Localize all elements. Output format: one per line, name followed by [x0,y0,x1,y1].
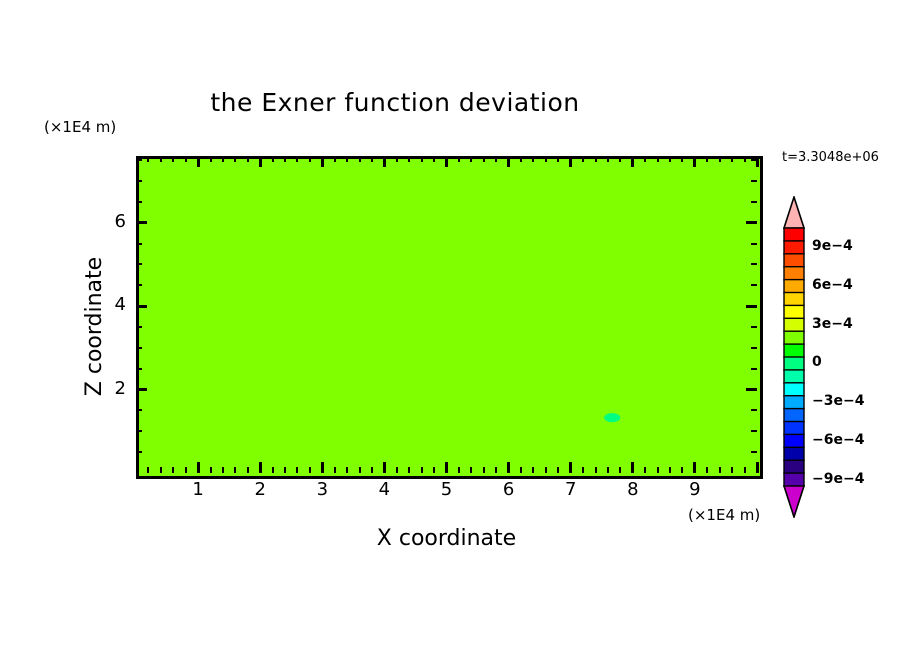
z-tick-minor [136,263,142,265]
x-tick-minor-top [284,156,286,162]
x-tick-minor [669,467,671,473]
x-tick-major-top [569,156,572,167]
x-tick-minor-top [234,156,236,162]
colorbar-swatch [784,331,804,344]
x-tick-minor [147,467,149,473]
page-title: the Exner function deviation [0,88,790,117]
x-tick-minor-top [470,156,472,162]
x-tick-label: 9 [675,479,715,500]
z-tick-major-right [746,221,757,224]
x-tick-major-top [631,156,634,167]
z-tick-minor [136,201,142,203]
x-tick-minor [234,467,236,473]
colorbar-swatch [784,383,804,396]
z-tick-major-right [746,305,757,308]
x-tick-minor [607,467,609,473]
x-tick-minor [520,467,522,473]
x-tick-minor-top [172,156,174,162]
x-tick-minor [172,467,174,473]
x-tick-major [321,462,324,473]
x-tick-minor-top [210,156,212,162]
colorbar-tick-label: −3e−4 [812,393,864,409]
x-tick-minor [557,467,559,473]
x-tick-major [445,462,448,473]
x-tick-minor-top [433,156,435,162]
x-tick-minor [210,467,212,473]
x-tick-major [259,462,262,473]
x-tick-minor [222,467,224,473]
x-tick-minor [458,467,460,473]
x-tick-major-top [445,156,448,167]
x-tick-minor-top [396,156,398,162]
x-tick-major [507,462,510,473]
x-tick-minor-top [545,156,547,162]
x-tick-label: 3 [302,479,342,500]
colorbar-tick-label: 0 [812,354,822,370]
z-tick-minor [136,180,142,182]
z-tick-minor [136,409,142,411]
colorbar-swatch [784,409,804,422]
x-tick-label: 7 [551,479,591,500]
x-tick-minor-top [272,156,274,162]
x-tick-minor [296,467,298,473]
x-tick-minor [421,467,423,473]
y-axis-title: Z coordinate [82,168,107,485]
z-tick-minor-right [751,347,757,349]
x-tick-label: 4 [364,479,404,500]
z-tick-minor [136,451,142,453]
x-tick-label: 1 [178,479,218,500]
x-tick-minor [545,467,547,473]
x-tick-minor-top [371,156,373,162]
x-tick-major-top [693,156,696,167]
x-tick-minor [731,467,733,473]
x-tick-minor-top [185,156,187,162]
x-tick-label: 6 [489,479,529,500]
colorbar-under-arrow [784,486,804,517]
colorbar-swatches [779,196,809,518]
z-tick-minor [136,368,142,370]
x-tick-minor [371,467,373,473]
x-tick-minor-top [483,156,485,162]
x-tick-minor [644,467,646,473]
x-tick-minor-top [582,156,584,162]
x-tick-minor [185,467,187,473]
x-tick-minor-top [557,156,559,162]
x-tick-minor-top [719,156,721,162]
x-tick-minor [744,467,746,473]
x-tick-minor-top [731,156,733,162]
x-tick-minor-top [222,156,224,162]
colorbar-swatch [784,267,804,280]
x-tick-minor-top [532,156,534,162]
x-tick-minor [483,467,485,473]
z-tick-minor [136,430,142,432]
colorbar-swatch [784,434,804,447]
x-tick-minor [272,467,274,473]
x-tick-minor [719,467,721,473]
colorbar-swatch [784,357,804,370]
colorbar-swatch [784,370,804,383]
x-tick-minor-top [619,156,621,162]
x-tick-minor [346,467,348,473]
colorbar-tick-label: 3e−4 [812,316,853,332]
colorbar-swatch [784,460,804,473]
x-tick-major [569,462,572,473]
x-tick-minor-top [520,156,522,162]
x-tick-major [631,462,634,473]
x-tick-minor [595,467,597,473]
x-tick-minor [433,467,435,473]
x-tick-minor [532,467,534,473]
z-tick-minor-right [751,409,757,411]
x-tick-minor-top [408,156,410,162]
colorbar-swatch [784,280,804,293]
x-tick-major-top [197,156,200,167]
x-tick-minor [396,467,398,473]
x-tick-minor-top [147,156,149,162]
x-tick-minor [619,467,621,473]
x-tick-minor-top [495,156,497,162]
x-tick-minor [359,467,361,473]
x-tick-minor [160,467,162,473]
x-tick-minor-top [359,156,361,162]
x-tick-minor-top [657,156,659,162]
z-tick-minor-right [751,430,757,432]
colorbar-tick-label: 9e−4 [812,238,853,254]
x-tick-major [197,462,200,473]
x-tick-label: 8 [613,479,653,500]
z-tick-minor-right [751,243,757,245]
x-tick-minor-top [334,156,336,162]
colorbar-swatch [784,447,804,460]
colorbar-swatch [784,228,804,241]
x-tick-minor-top [296,156,298,162]
negative-anomaly-spot [604,413,620,422]
x-tick-minor-top [421,156,423,162]
x-tick-minor [582,467,584,473]
x-tick-minor-top [346,156,348,162]
colorbar-swatch [784,254,804,267]
colorbar-swatch [784,318,804,331]
z-tick-minor [136,284,142,286]
x-tick-minor-top [744,156,746,162]
contour-plot-area [136,156,763,479]
x-tick-minor-top [681,156,683,162]
x-tick-major-top [756,156,759,167]
colorbar-swatch [784,344,804,357]
x-tick-minor-top [160,156,162,162]
x-tick-minor-top [607,156,609,162]
colorbar-tick-label: −9e−4 [812,471,864,487]
x-tick-minor-top [309,156,311,162]
x-tick-major-top [507,156,510,167]
colorbar-over-arrow [784,197,804,228]
z-tick-major [136,305,147,308]
colorbar-tick-label: 6e−4 [812,277,853,293]
x-tick-minor [470,467,472,473]
colorbar-swatch [784,473,804,486]
x-tick-minor-top [644,156,646,162]
x-tick-minor [657,467,659,473]
x-tick-minor [334,467,336,473]
z-tick-minor [136,347,142,349]
colorbar-swatch [784,396,804,409]
z-tick-minor-right [751,263,757,265]
x-tick-minor [247,467,249,473]
x-tick-minor-top [458,156,460,162]
z-tick-minor-right [751,284,757,286]
x-axis-title: X coordinate [136,526,757,551]
z-tick-minor-right [751,159,757,161]
x-tick-major-top [321,156,324,167]
x-tick-label: 5 [427,479,467,500]
z-tick-minor-right [751,201,757,203]
x-tick-minor [681,467,683,473]
x-axis-unit-label: (×1E4 m) [688,506,760,524]
z-tick-minor [136,159,142,161]
x-tick-major [383,462,386,473]
x-tick-major [756,462,759,473]
z-tick-minor-right [751,451,757,453]
z-tick-minor [136,243,142,245]
x-tick-minor-top [669,156,671,162]
timestamp-label: t=3.3048e+06 [782,150,879,165]
z-tick-major-right [746,388,757,391]
z-tick-minor [136,326,142,328]
x-tick-minor [495,467,497,473]
z-tick-major [136,388,147,391]
z-tick-minor-right [751,326,757,328]
z-tick-major [136,221,147,224]
x-tick-major-top [383,156,386,167]
colorbar-swatch [784,305,804,318]
x-tick-minor [284,467,286,473]
z-tick-minor-right [751,368,757,370]
colorbar-swatch [784,241,804,254]
colorbar-tick-label: −6e−4 [812,432,864,448]
z-tick-minor-right [751,180,757,182]
contour-field [139,159,760,476]
x-tick-minor [706,467,708,473]
x-tick-major-top [259,156,262,167]
colorbar-swatch [784,293,804,306]
y-axis-unit-label: (×1E4 m) [44,118,116,136]
x-tick-minor [408,467,410,473]
x-tick-minor [309,467,311,473]
colorbar-swatch [784,422,804,435]
x-tick-minor-top [595,156,597,162]
x-tick-minor-top [247,156,249,162]
x-tick-major [693,462,696,473]
x-tick-label: 2 [240,479,280,500]
x-tick-minor-top [706,156,708,162]
colorbar [779,196,809,518]
